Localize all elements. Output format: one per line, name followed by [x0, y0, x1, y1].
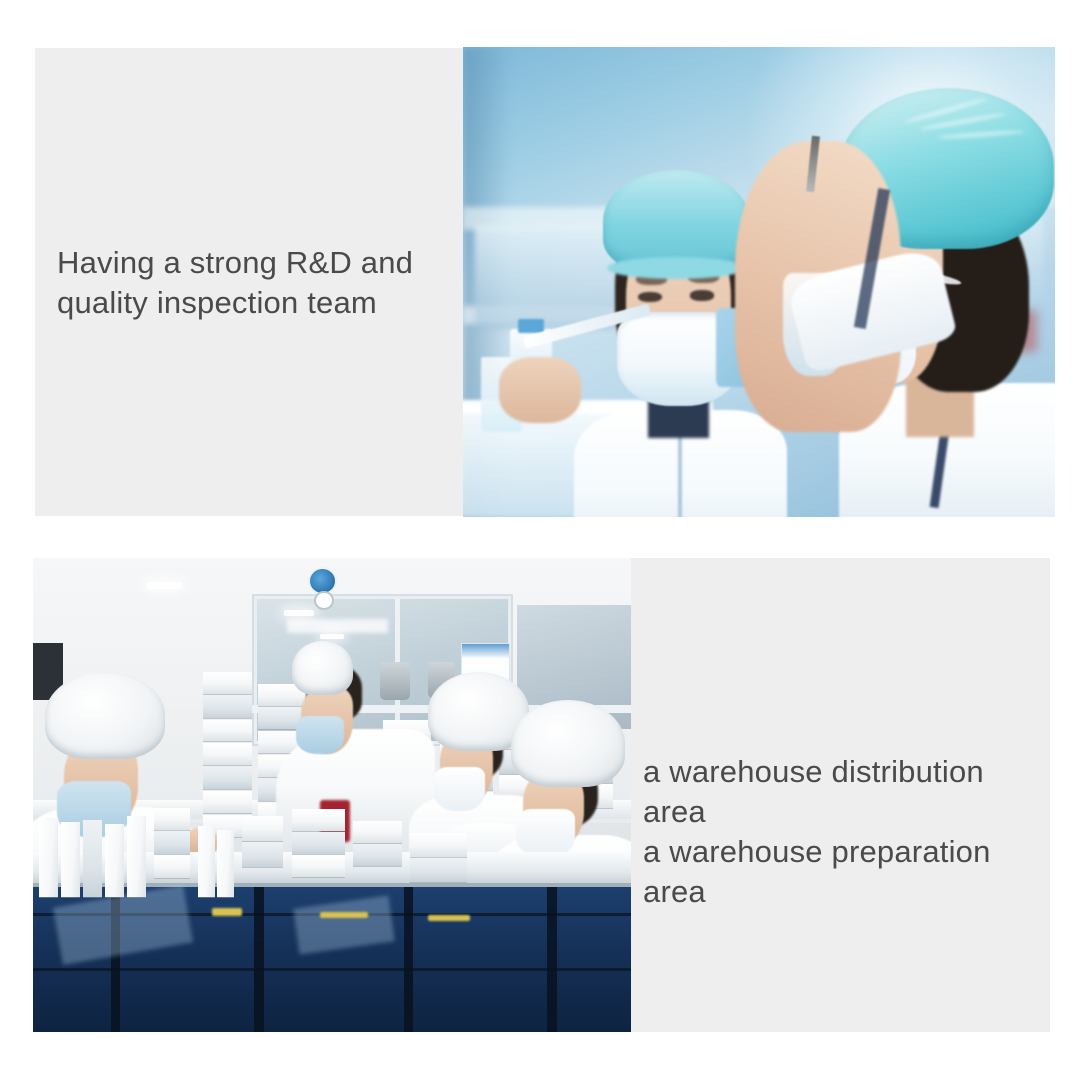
carton-box-tall [105, 824, 124, 897]
carton-box-tall [217, 830, 234, 897]
face-mask [516, 809, 575, 857]
rd-quality-inspection-lab-photo [463, 47, 1055, 517]
table-leg [404, 887, 414, 1032]
ceiling-light [284, 610, 314, 616]
carton-box [292, 809, 345, 831]
carton-box [203, 767, 252, 789]
table-rail [33, 968, 631, 971]
table-reflection [293, 895, 394, 954]
carton-box [410, 858, 467, 882]
carton-box [203, 672, 252, 694]
carton-box [203, 696, 252, 718]
face-mask [296, 716, 344, 754]
hairnet-cap [45, 672, 165, 759]
carton-box [203, 743, 252, 765]
carton-box [292, 832, 345, 854]
face-mask [434, 767, 485, 811]
yellow-marker [320, 912, 368, 918]
bottom-section-caption: a warehouse distribution area a warehous… [643, 752, 1053, 912]
technician-hand [499, 357, 582, 423]
carton-box [154, 808, 190, 831]
hairnet-fold [938, 129, 1024, 140]
table-leg [254, 887, 264, 1032]
warehouse-packing-area-photo [33, 558, 631, 1032]
yellow-marker [212, 908, 242, 917]
carton-box [410, 833, 467, 857]
carton-box-tall [83, 820, 102, 897]
carton-box-tall [39, 818, 58, 897]
yellow-marker [428, 915, 470, 921]
top-section-caption: Having a strong R&D and quality inspecti… [57, 243, 457, 323]
wall-clock [314, 591, 334, 610]
foreground-carton-group-right [284, 809, 487, 894]
table-leg [547, 887, 557, 1032]
carton-box [353, 844, 402, 866]
carton-box [353, 821, 402, 843]
hairnet-cap [292, 641, 353, 695]
carton-box [242, 842, 283, 867]
hairnet-cap [511, 700, 625, 787]
table-blue-frame [33, 887, 631, 1032]
foreground-carton-group [33, 795, 308, 899]
carton-box [154, 831, 190, 854]
carton-box-tall [61, 822, 80, 897]
carton-box [203, 720, 252, 742]
ceiling-light [147, 582, 183, 590]
carton-box [154, 855, 190, 878]
carton-box [292, 855, 345, 877]
technician-eye [638, 292, 662, 302]
carton-box [242, 816, 283, 841]
carton-box-tall [127, 816, 146, 897]
carton-box-tall [198, 826, 215, 897]
warehouse-worker-bending [296, 624, 410, 833]
technician-eye [690, 290, 714, 300]
hairnet-cap [603, 170, 750, 273]
